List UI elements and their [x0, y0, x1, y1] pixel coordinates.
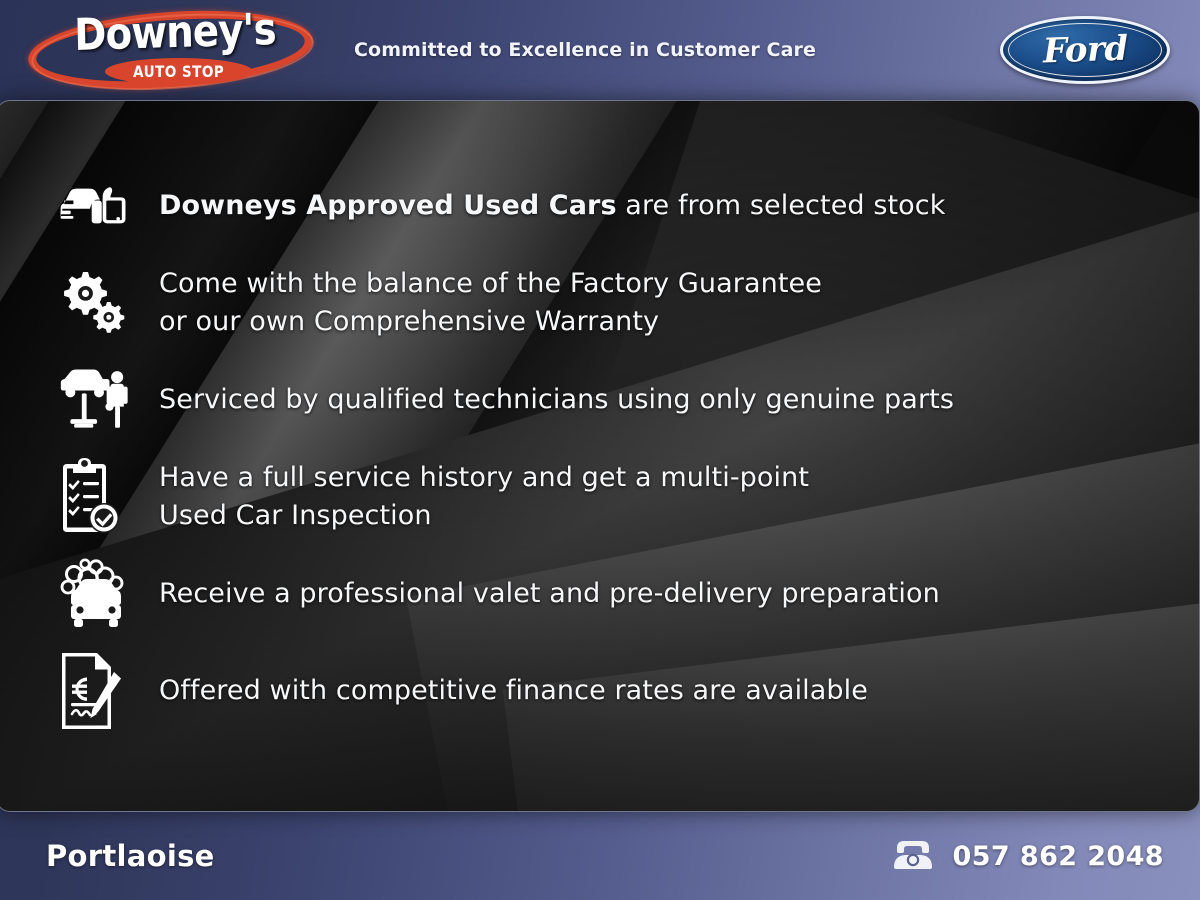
ford-logo[interactable]: Ford: [1000, 0, 1200, 100]
list-item: Come with the balance of the Factory Gua…: [49, 260, 1159, 346]
feature-text: Have a full service history and get a mu…: [159, 459, 809, 536]
ford-wordmark: Ford: [1042, 29, 1128, 72]
branch-name: Portlaoise: [46, 839, 215, 873]
feature-text-rest: Offered with competitive finance rates a…: [159, 675, 868, 706]
list-item: Downeys Approved Used Cars are from sele…: [49, 163, 1159, 249]
feature-text: Serviced by qualified technicians using …: [159, 381, 954, 419]
feature-text: Downeys Approved Used Cars are from sele…: [159, 187, 945, 225]
feature-text-line2: Used Car Inspection: [159, 497, 809, 535]
list-item: Offered with competitive finance rates a…: [49, 648, 1159, 734]
feature-text: Receive a professional valet and pre-del…: [159, 575, 940, 613]
advert-poster: Downey's AUTO STOP Committed to Excellen…: [0, 0, 1200, 900]
logo-badge-label: AUTO STOP: [133, 62, 224, 81]
feature-text-rest: Serviced by qualified technicians using …: [159, 384, 954, 415]
feature-text-rest: are from selected stock: [617, 190, 946, 221]
logo-badge: AUTO STOP: [105, 58, 253, 85]
feature-text: Come with the balance of the Factory Gua…: [159, 265, 822, 342]
feature-text-strong: Downeys Approved Used Cars: [159, 190, 617, 221]
page-header: Downey's AUTO STOP Committed to Excellen…: [0, 0, 1200, 100]
tagline: Committed to Excellence in Customer Care: [330, 39, 1000, 61]
euro-document-pen-icon: [49, 652, 141, 730]
feature-text-rest: Come with the balance of the Factory Gua…: [159, 268, 822, 299]
feature-text-line2: or our own Comprehensive Warranty: [159, 303, 822, 341]
page-footer: Portlaoise 057 862 2048: [0, 812, 1200, 900]
feature-text-rest: Receive a professional valet and pre-del…: [159, 578, 940, 609]
list-item: Serviced by qualified technicians using …: [49, 357, 1159, 443]
list-item: Receive a professional valet and pre-del…: [49, 551, 1159, 637]
feature-list: Downeys Approved Used Cars are from sele…: [0, 101, 1199, 811]
logo-name: Downey's: [64, 4, 285, 62]
phone-contact[interactable]: 057 862 2048: [891, 838, 1164, 875]
feature-text-rest: Have a full service history and get a mu…: [159, 462, 809, 493]
clipboard-checklist-icon: [49, 458, 141, 536]
telephone-icon: [891, 838, 935, 875]
features-panel: Downeys Approved Used Cars are from sele…: [0, 100, 1200, 812]
car-thumbs-up-icon: [49, 167, 141, 245]
gears-icon: [49, 264, 141, 342]
downeys-logo[interactable]: Downey's AUTO STOP: [0, 0, 330, 100]
car-wash-icon: [49, 555, 141, 633]
ford-oval-icon: Ford: [1000, 16, 1170, 84]
phone-number: 057 862 2048: [953, 841, 1164, 872]
feature-text: Offered with competitive finance rates a…: [159, 672, 868, 710]
car-lift-technician-icon: [49, 361, 141, 439]
list-item: Have a full service history and get a mu…: [49, 454, 1159, 540]
